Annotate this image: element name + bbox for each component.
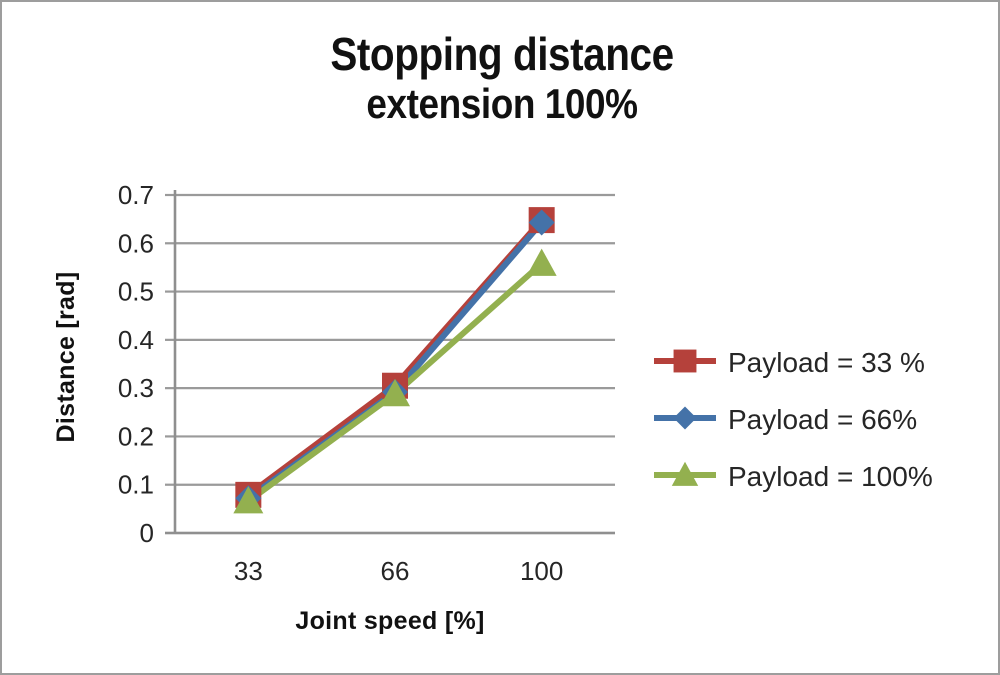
chart-legend: Payload = 33 %Payload = 66%Payload = 100… — [654, 347, 933, 492]
y-tick-label: 0.3 — [118, 373, 154, 403]
y-tick-label: 0.4 — [118, 325, 154, 355]
data-series-group — [233, 207, 556, 513]
chart-container: Stopping distance extension 100% 00.10.2… — [0, 0, 1000, 675]
chart-plot-area: 00.10.20.30.40.50.60.7 3366100 Joint spe… — [2, 2, 1000, 675]
y-axis-tickmarks — [165, 195, 175, 533]
x-axis-title: Joint speed [%] — [295, 607, 484, 635]
legend-label: Payload = 66% — [728, 404, 917, 435]
series-line — [248, 223, 541, 499]
legend-label: Payload = 100% — [728, 461, 933, 492]
y-tick-label: 0.5 — [118, 277, 154, 307]
series-line — [248, 220, 541, 495]
legend-marker — [674, 350, 697, 373]
y-tick-label: 0 — [140, 518, 154, 548]
y-tick-label: 0.6 — [118, 228, 154, 258]
legend-label: Payload = 33 % — [728, 347, 925, 378]
x-tick-label: 100 — [520, 556, 563, 586]
y-tick-label: 0.7 — [118, 180, 154, 210]
legend-marker — [674, 407, 697, 430]
y-tick-label: 0.2 — [118, 421, 154, 451]
y-axis-tick-labels: 00.10.20.30.40.50.60.7 — [118, 180, 154, 548]
y-tick-label: 0.1 — [118, 470, 154, 500]
data-point-marker — [527, 249, 557, 276]
x-axis-tick-labels: 3366100 — [234, 556, 563, 586]
x-tick-label: 66 — [381, 556, 410, 586]
x-tick-label: 33 — [234, 556, 263, 586]
y-axis-title: Distance [rad] — [52, 272, 80, 443]
